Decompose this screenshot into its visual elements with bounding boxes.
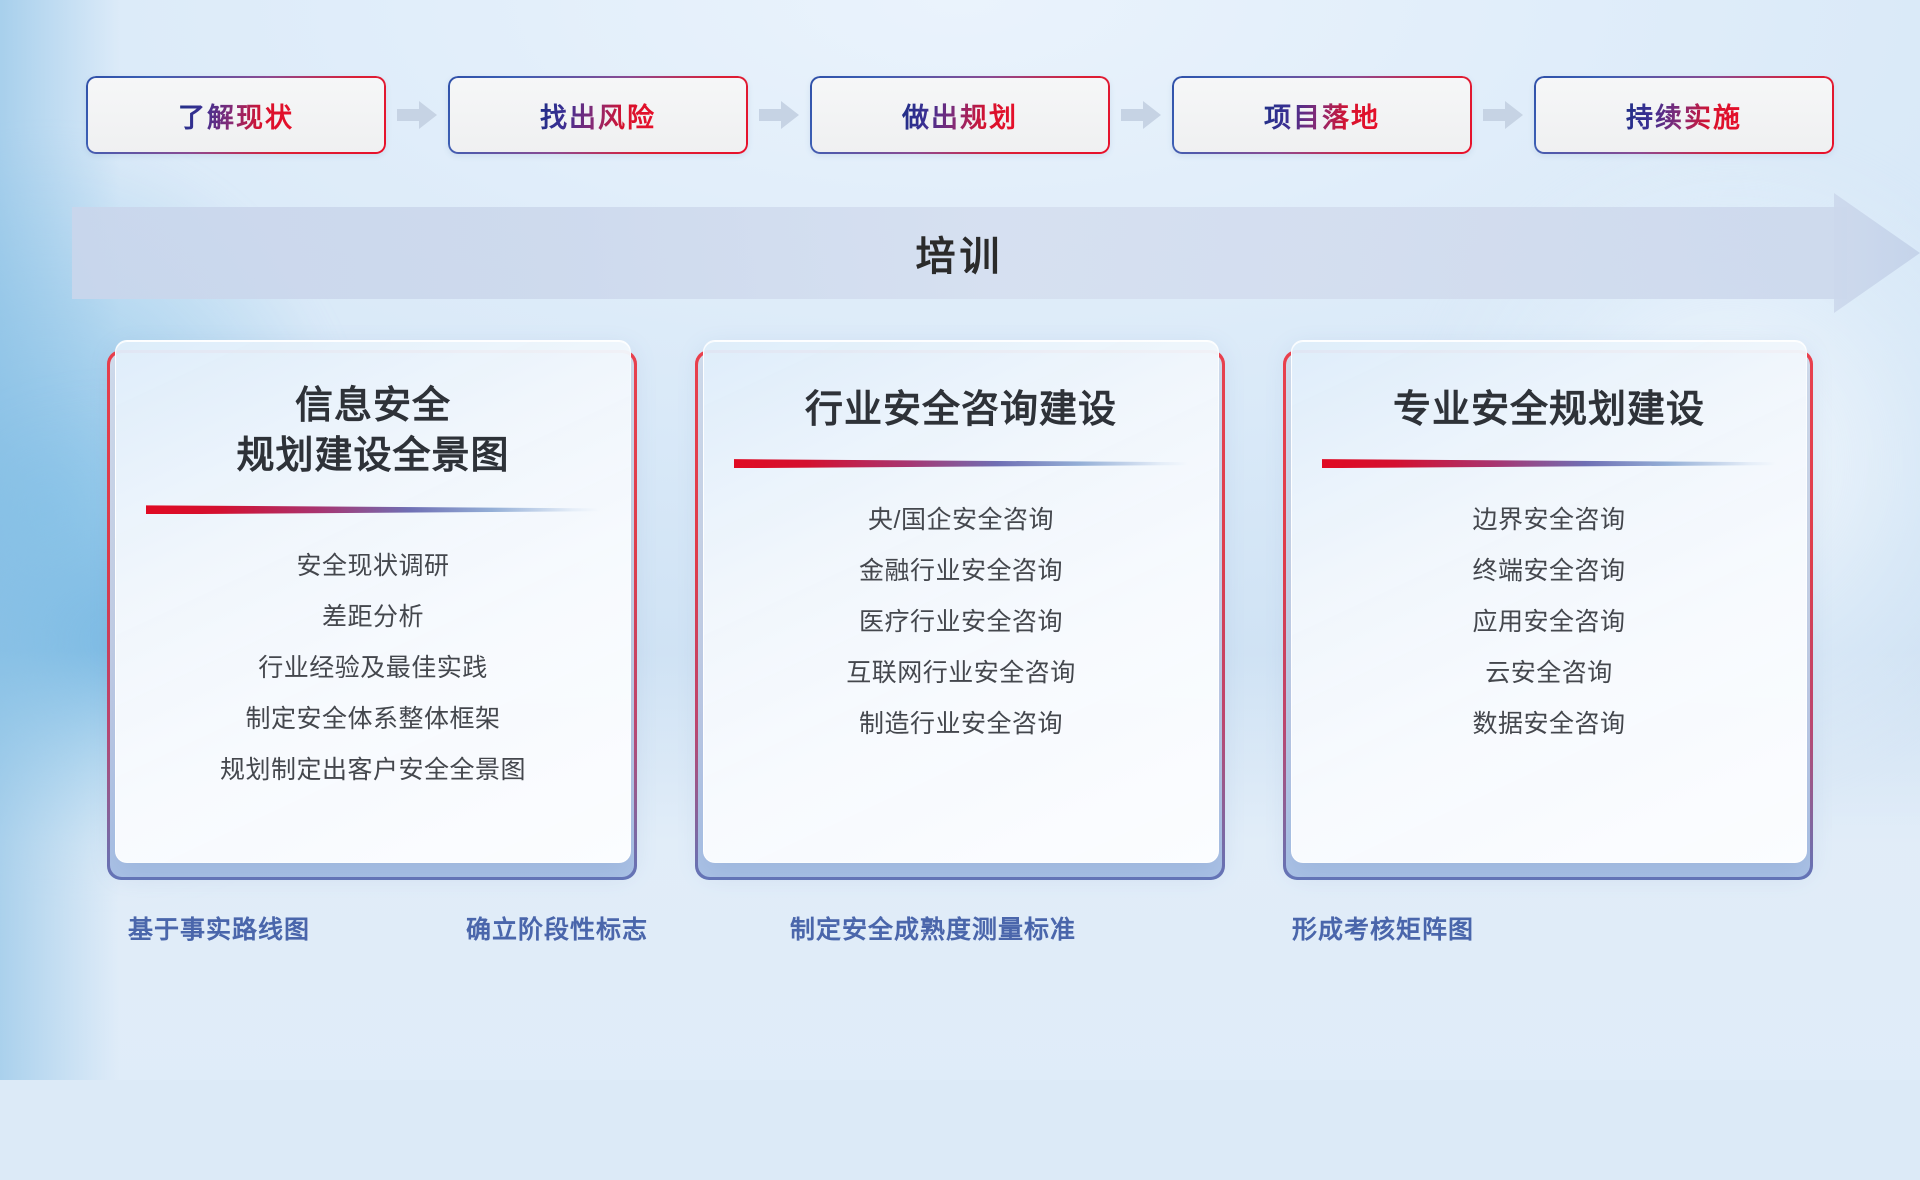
training-banner-label: 培训 <box>72 207 1847 299</box>
list-item: 终端安全咨询 <box>1472 546 1625 597</box>
step-label-3: 做出规划 <box>902 96 1018 135</box>
list-item: 边界安全咨询 <box>1472 495 1625 546</box>
step-label-4: 项目落地 <box>1264 96 1380 135</box>
caption-1: 基于事实路线图 <box>128 910 310 946</box>
card-1-list: 安全现状调研 差距分析 行业经验及最佳实践 制定安全体系整体框架 规划制定出客户… <box>116 541 630 796</box>
card-3-list: 边界安全咨询 终端安全咨询 应用安全咨询 云安全咨询 数据安全咨询 <box>1292 495 1806 750</box>
caption-2: 确立阶段性标志 <box>466 910 648 946</box>
list-item: 数据安全咨询 <box>1472 699 1625 750</box>
arrow-right-icon <box>1121 100 1161 130</box>
card-1[interactable]: 信息安全 规划建设全景图 安全现状调研 差距分析 行业经验及最佳实践 制定安全体… <box>107 340 637 880</box>
card-2[interactable]: 行业安全咨询建设 央/国企安全咨询 金融行业安全咨询 医疗行业安全咨询 互联网行… <box>695 340 1225 880</box>
step-box-1[interactable]: 了解现状 <box>86 76 386 154</box>
list-item: 安全现状调研 <box>296 541 449 592</box>
step-box-5[interactable]: 持续实施 <box>1534 76 1834 154</box>
card-3-title: 专业安全规划建设 <box>1393 385 1705 435</box>
process-steps: 了解现状 找出风险 做出规划 项目落地 <box>0 74 1920 156</box>
card-group: 信息安全 规划建设全景图 安全现状调研 差距分析 行业经验及最佳实践 制定安全体… <box>0 340 1920 880</box>
card-2-title: 行业安全咨询建设 <box>805 385 1117 435</box>
caption-4: 形成考核矩阵图 <box>1292 910 1474 946</box>
step-box-4[interactable]: 项目落地 <box>1172 76 1472 154</box>
list-item: 云安全咨询 <box>1485 648 1613 699</box>
step-label-2: 找出风险 <box>540 96 656 135</box>
list-item: 行业经验及最佳实践 <box>258 643 488 694</box>
caption-3: 制定安全成熟度测量标准 <box>790 910 1076 946</box>
list-item: 金融行业安全咨询 <box>859 546 1063 597</box>
step-separator-arrow-2 <box>748 76 810 154</box>
list-item: 制造行业安全咨询 <box>859 699 1063 750</box>
step-separator-arrow-4 <box>1472 76 1534 154</box>
list-item: 医疗行业安全咨询 <box>859 597 1063 648</box>
list-item: 差距分析 <box>322 592 424 643</box>
step-separator-arrow-3 <box>1110 76 1172 154</box>
card-2-surface[interactable]: 行业安全咨询建设 央/国企安全咨询 金融行业安全咨询 医疗行业安全咨询 互联网行… <box>703 340 1219 863</box>
card-1-title: 信息安全 规划建设全景图 <box>236 381 509 481</box>
list-item: 制定安全体系整体框架 <box>245 694 500 745</box>
card-2-list: 央/国企安全咨询 金融行业安全咨询 医疗行业安全咨询 互联网行业安全咨询 制造行… <box>704 495 1218 750</box>
card-1-surface[interactable]: 信息安全 规划建设全景图 安全现状调研 差距分析 行业经验及最佳实践 制定安全体… <box>115 340 631 863</box>
arrow-right-icon <box>759 100 799 130</box>
list-item: 规划制定出客户安全全景图 <box>220 745 526 796</box>
list-item: 互联网行业安全咨询 <box>846 648 1076 699</box>
card-1-divider <box>146 503 600 517</box>
list-item: 央/国企安全咨询 <box>868 495 1054 546</box>
arrow-right-icon <box>1483 100 1523 130</box>
card-2-divider <box>734 457 1188 471</box>
list-item: 应用安全咨询 <box>1472 597 1625 648</box>
step-box-3[interactable]: 做出规划 <box>810 76 1110 154</box>
step-box-2[interactable]: 找出风险 <box>448 76 748 154</box>
arrow-right-icon <box>397 100 437 130</box>
card-3-surface[interactable]: 专业安全规划建设 边界安全咨询 终端安全咨询 应用安全咨询 云安全咨询 数据安全… <box>1291 340 1807 863</box>
step-label-5: 持续实施 <box>1626 96 1742 135</box>
card-3-divider <box>1322 457 1776 471</box>
card-3[interactable]: 专业安全规划建设 边界安全咨询 终端安全咨询 应用安全咨询 云安全咨询 数据安全… <box>1283 340 1813 880</box>
training-banner: 培训 <box>72 207 1920 299</box>
step-label-1: 了解现状 <box>178 96 294 135</box>
step-separator-arrow-1 <box>386 76 448 154</box>
caption-row: 基于事实路线图 确立阶段性标志 制定安全成熟度测量标准 形成考核矩阵图 <box>0 910 1920 970</box>
